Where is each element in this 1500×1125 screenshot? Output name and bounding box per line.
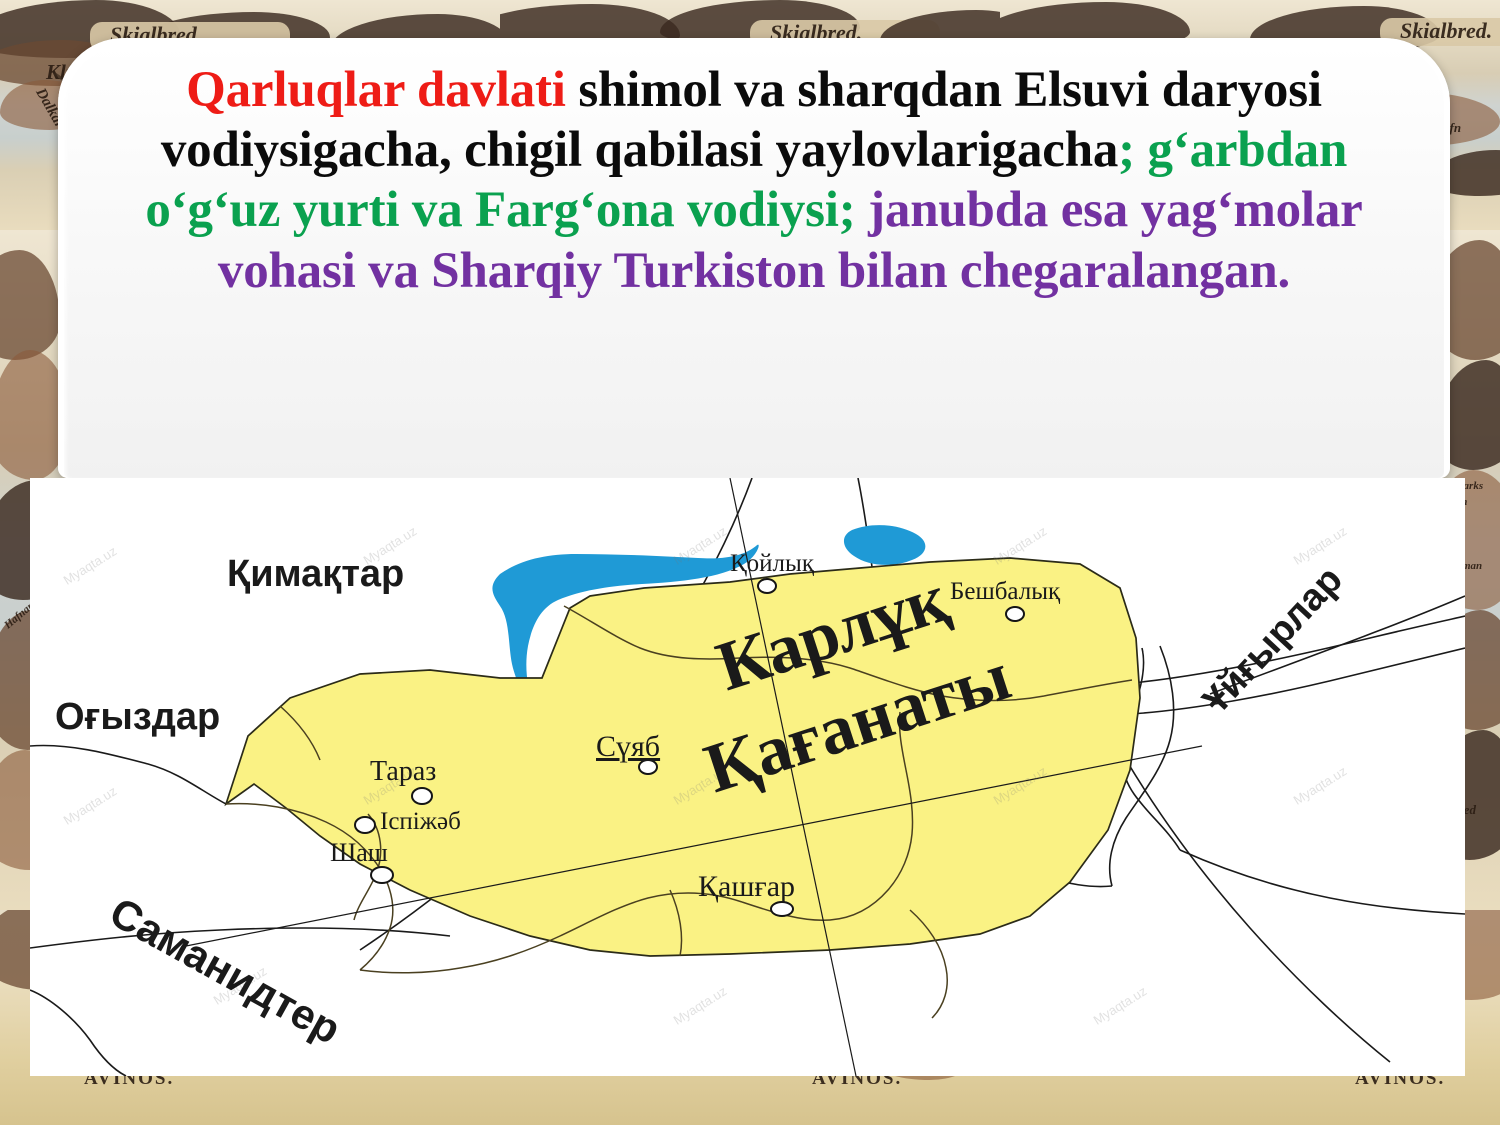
- slide-text-panel: Qarluqlar davlati shimol va sharqdan Els…: [58, 38, 1450, 478]
- slide-paragraph: Qarluqlar davlati shimol va sharqdan Els…: [58, 38, 1450, 301]
- map-panel: Myaqta.uz Myaqta.uz Myaqta.uz Myaqta.uz …: [30, 478, 1465, 1076]
- karluk-territory: [226, 558, 1140, 956]
- text-segment-red: Qarluqlar davlati: [186, 62, 566, 118]
